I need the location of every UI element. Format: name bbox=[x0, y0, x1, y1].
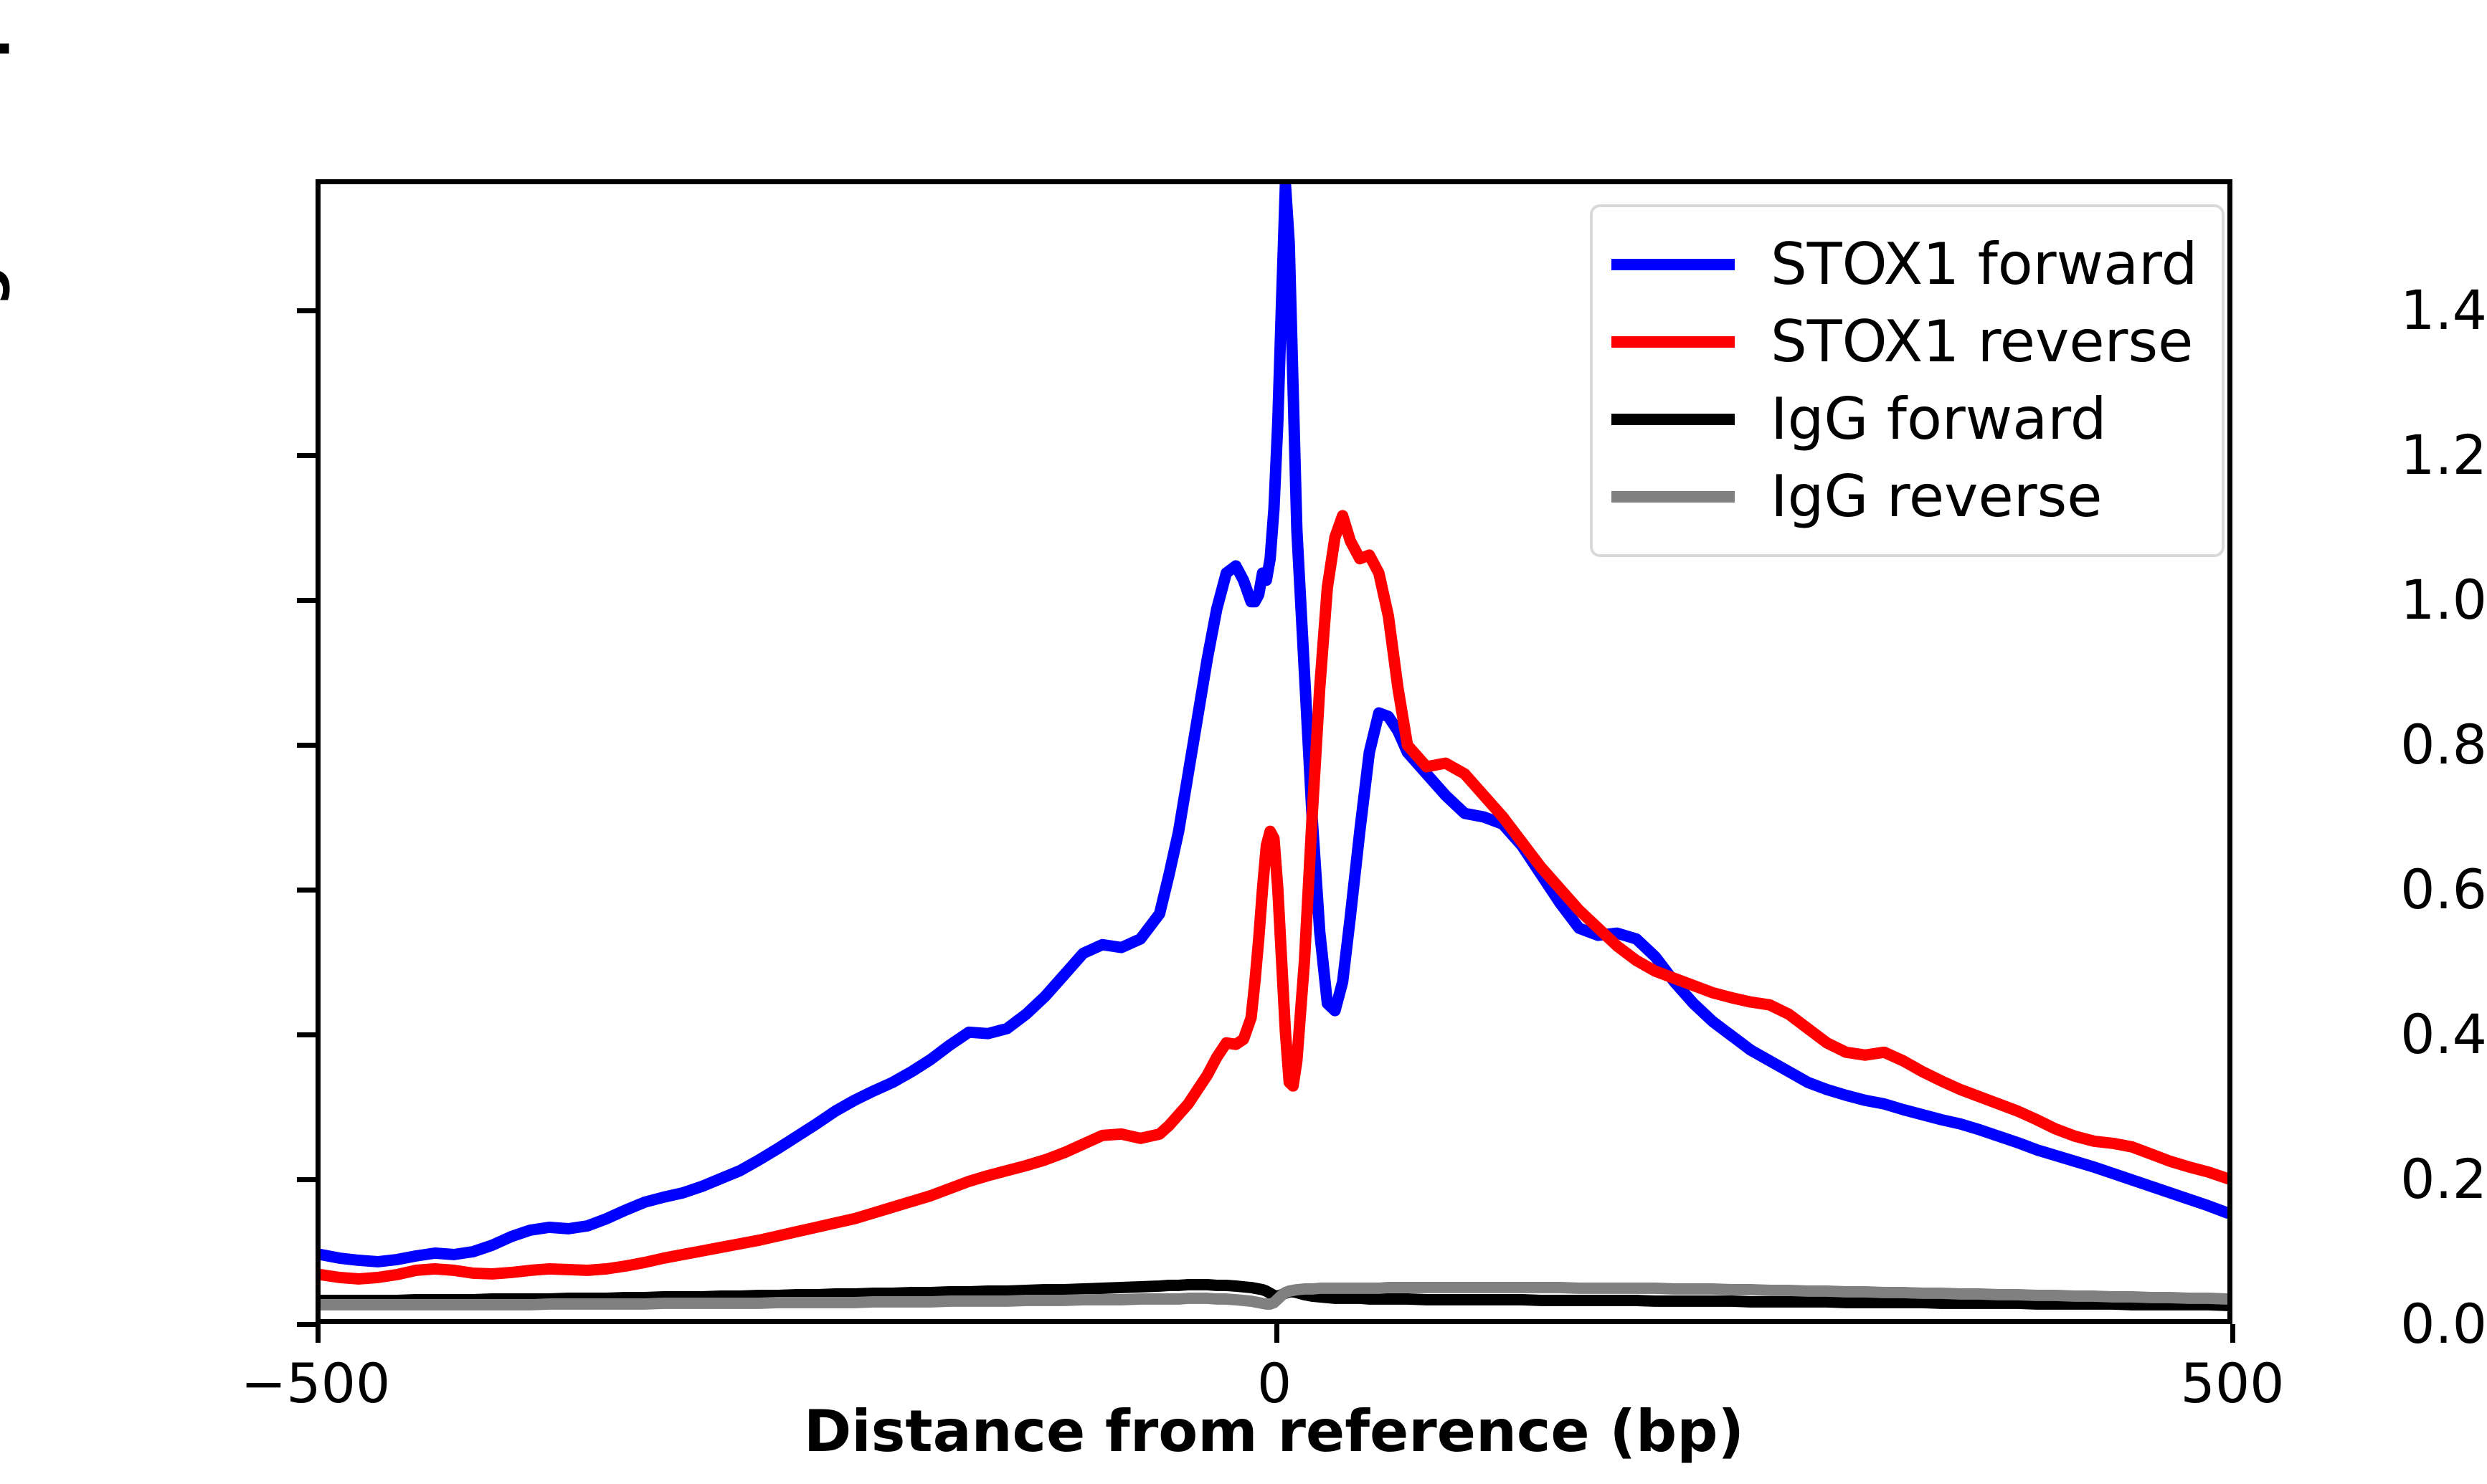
y-tick-label: 0.2 bbox=[2250, 1152, 2487, 1207]
y-axis-label: Average occupancy bbox=[0, 0, 11, 502]
y-tick-label: 1.0 bbox=[2250, 573, 2487, 627]
legend-item[interactable]: STOX1 reverse bbox=[1611, 303, 2197, 381]
y-tick-label: 1.2 bbox=[2250, 428, 2487, 482]
y-tick-mark bbox=[297, 1032, 316, 1037]
chart-figure: 1.4 1.2 1.0 0.8 0.6 0.4 0.2 0.0 −500 0 5… bbox=[0, 0, 2487, 1484]
y-tick-mark bbox=[297, 453, 316, 458]
x-tick-mark bbox=[316, 1324, 321, 1343]
legend-swatch-icon bbox=[1611, 259, 1735, 270]
y-tick-mark bbox=[297, 1322, 316, 1327]
legend-swatch-icon bbox=[1611, 491, 1735, 503]
legend-label: IgG forward bbox=[1771, 391, 2107, 448]
y-tick-mark bbox=[297, 598, 316, 603]
y-tick-label: 0.0 bbox=[2250, 1297, 2487, 1351]
y-tick-label: 0.4 bbox=[2250, 1007, 2487, 1062]
y-tick-label: 1.4 bbox=[2250, 283, 2487, 338]
legend-label: STOX1 forward bbox=[1771, 236, 2197, 293]
legend-swatch-icon bbox=[1611, 336, 1735, 348]
legend: STOX1 forward STOX1 reverse IgG forward … bbox=[1590, 204, 2225, 557]
y-tick-mark bbox=[297, 888, 316, 893]
x-tick-mark bbox=[1274, 1324, 1279, 1343]
y-tick-label: 0.8 bbox=[2250, 718, 2487, 772]
legend-item[interactable]: IgG reverse bbox=[1611, 458, 2197, 536]
series-line bbox=[321, 515, 2227, 1279]
x-tick-mark bbox=[2230, 1324, 2235, 1343]
legend-swatch-icon bbox=[1611, 414, 1735, 425]
x-axis-label: Distance from reference (bp) bbox=[316, 1398, 2232, 1465]
y-tick-label: 0.6 bbox=[2250, 862, 2487, 917]
y-tick-mark bbox=[297, 743, 316, 748]
legend-item[interactable]: STOX1 forward bbox=[1611, 226, 2197, 303]
legend-label: STOX1 reverse bbox=[1771, 313, 2193, 371]
y-tick-mark bbox=[297, 308, 316, 313]
legend-label: IgG reverse bbox=[1771, 468, 2103, 525]
y-tick-mark bbox=[297, 1177, 316, 1182]
legend-item[interactable]: IgG forward bbox=[1611, 381, 2197, 458]
